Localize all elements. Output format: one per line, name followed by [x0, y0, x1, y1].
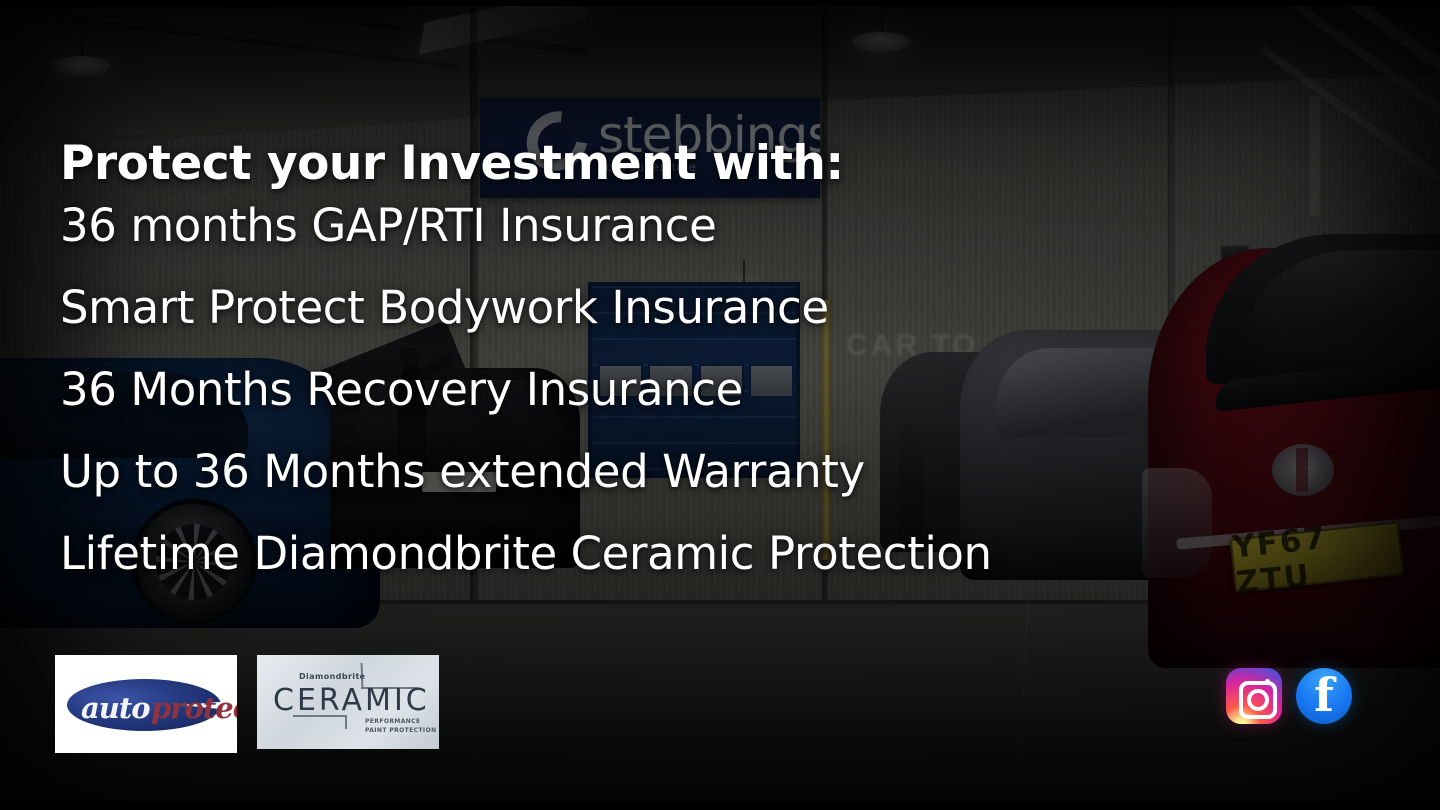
- autoprotect-word-protect: protect: [151, 691, 237, 725]
- diamondbrite-ceramic-logo: Diamondbrite CERAMIC PERFORMANCE PAINT P…: [257, 655, 439, 749]
- autoprotect-logo: auto protect: [55, 655, 237, 753]
- letterbox-bar-top: [0, 0, 1440, 6]
- promo-bullet-1: 36 months GAP/RTI Insurance: [60, 203, 1320, 248]
- letterbox-bar-bottom: [0, 802, 1440, 810]
- slide-stage: stebbings car superstore CAR TO: [0, 0, 1440, 810]
- ceramic-tagline: PERFORMANCE PAINT PROTECTION: [365, 717, 439, 735]
- autoprotect-word-auto: auto: [81, 691, 150, 725]
- social-links: f: [1226, 668, 1352, 724]
- ceramic-brand-name: Diamondbrite: [299, 672, 366, 681]
- facebook-glyph: f: [1296, 672, 1352, 718]
- promo-bullet-4: Up to 36 Months extended Warranty: [60, 449, 1320, 494]
- promo-bullet-3: 36 Months Recovery Insurance: [60, 367, 1320, 412]
- promo-headline: Protect your Investment with:: [60, 138, 1320, 191]
- partner-logos: auto protect Diamondbrite CERAMIC PERFOR…: [55, 655, 439, 753]
- promo-bullet-2: Smart Protect Bodywork Insurance: [60, 285, 1320, 330]
- promo-bullet-5: Lifetime Diamondbrite Ceramic Protection: [60, 531, 1320, 576]
- promo-text-block: Protect your Investment with: 36 months …: [60, 138, 1320, 576]
- facebook-icon[interactable]: f: [1296, 668, 1352, 724]
- ceramic-title: CERAMIC: [273, 683, 430, 718]
- instagram-icon[interactable]: [1226, 668, 1282, 724]
